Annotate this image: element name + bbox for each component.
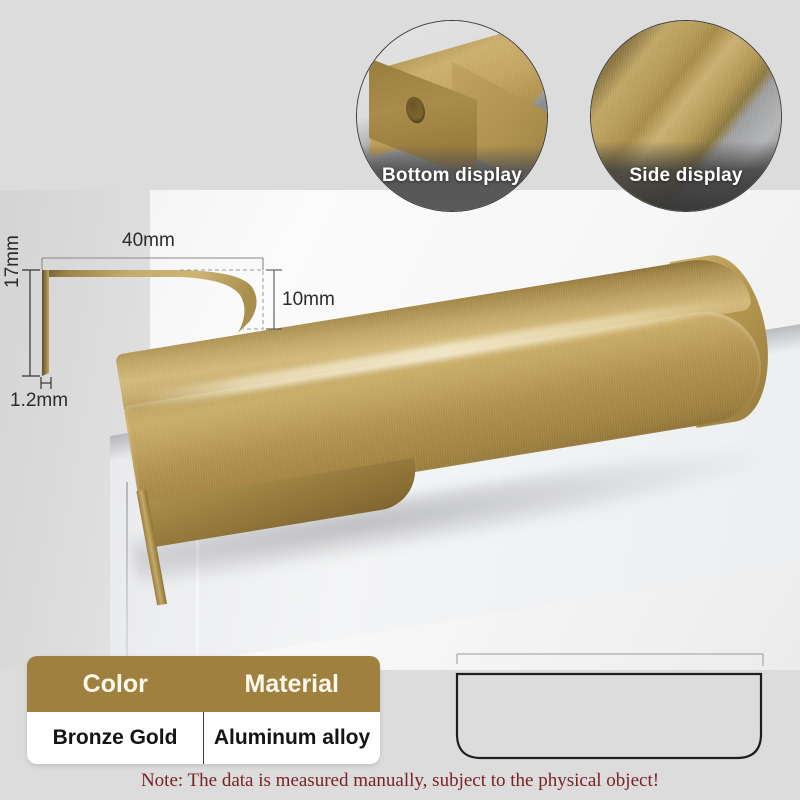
measurement-note: Note: The data is measured manually, sub… — [0, 770, 800, 792]
cabinet-door-seam-left — [126, 482, 128, 670]
spec-value-material: Aluminum alloy — [204, 712, 380, 764]
spec-table-value-row: Bronze Gold Aluminum alloy — [27, 712, 380, 764]
outline-drawing-top-view — [455, 640, 775, 770]
spec-table-header-row: Color Material — [27, 656, 380, 712]
dimension-label-thickness: 1.2mm — [10, 390, 68, 412]
detail-circle-bottom-display: Bottom display — [356, 20, 548, 212]
spec-table: Color Material Bronze Gold Aluminum allo… — [27, 656, 380, 764]
dimension-label-height: 17mm — [2, 235, 24, 288]
dimension-diagram — [0, 225, 350, 410]
detail-circle-side-label: Side display — [591, 165, 781, 187]
spec-header-color: Color — [27, 656, 204, 712]
detail-circle-side-display: Side display — [590, 20, 782, 212]
dimension-label-width: 40mm — [122, 230, 175, 252]
detail-circle-bottom-label: Bottom display — [357, 165, 547, 187]
spec-header-material: Material — [204, 656, 381, 712]
dimension-label-depth: 10mm — [282, 289, 335, 311]
spec-value-color: Bronze Gold — [27, 712, 204, 764]
product-detail-image: Bottom display Side display — [0, 0, 800, 800]
